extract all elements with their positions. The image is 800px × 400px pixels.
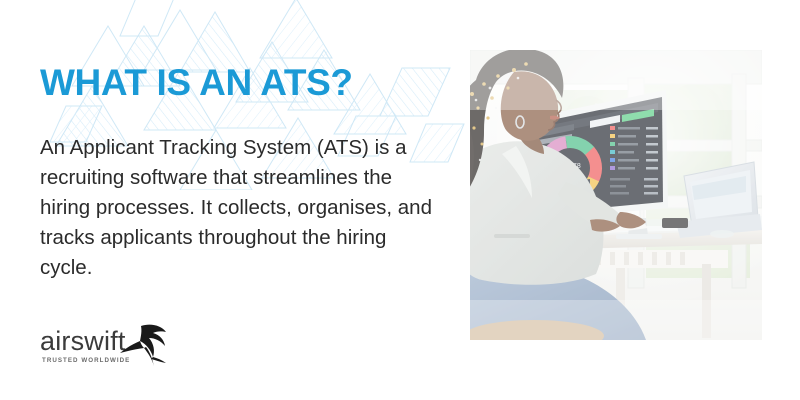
airswift-logo: airswift TRUSTED WORLDWIDE	[40, 320, 210, 372]
page-title: WHAT IS AN ATS?	[40, 62, 353, 104]
body-paragraph: An Applicant Tracking System (ATS) is a …	[40, 133, 440, 283]
logo-wordmark: airswift	[40, 326, 126, 356]
text-column: WHAT IS AN ATS? An Applicant Tracking Sy…	[0, 0, 460, 400]
logo-tagline: TRUSTED WORLDWIDE	[42, 357, 130, 364]
slide-canvas: WHAT IS AN ATS? An Applicant Tracking Sy…	[0, 0, 800, 400]
office-photo: $2,478 Expenses	[470, 50, 762, 340]
